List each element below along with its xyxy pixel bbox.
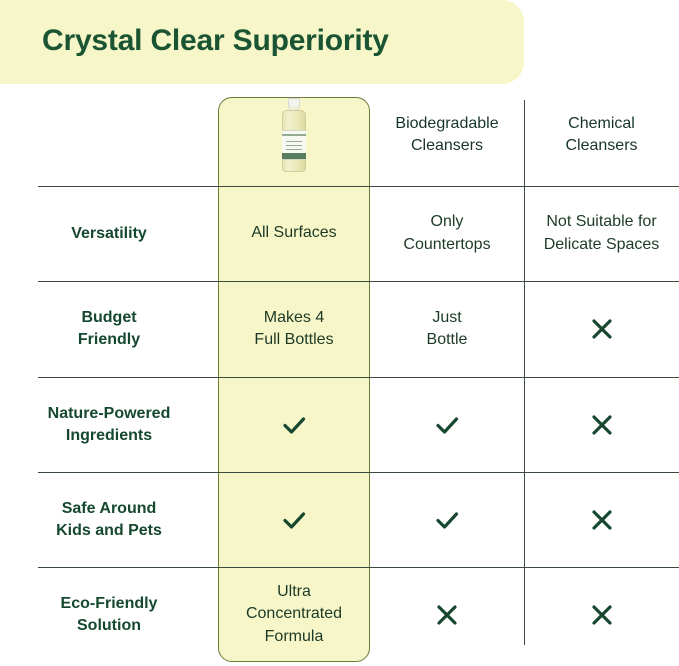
- row-label-line2: Kids and Pets: [56, 520, 162, 542]
- bottle-label-line: [286, 141, 302, 142]
- table-row: Safe Around Kids and Pets: [0, 472, 679, 567]
- cell-product-nature-powered: [218, 377, 370, 472]
- cell-biodegradable-nature-powered: [370, 377, 524, 472]
- cell-chemical-budget-friendly: [524, 281, 679, 377]
- row-separator: [38, 472, 679, 473]
- cell-biodegradable-versatility: Only Countertops: [370, 186, 524, 281]
- row-label-line2: Solution: [61, 615, 158, 637]
- cell-chemical-safe-around: [524, 472, 679, 567]
- cell-product-budget-friendly: Makes 4 Full Bottles: [218, 281, 370, 377]
- bottle-label-footer: [282, 153, 306, 159]
- row-separator: [38, 377, 679, 378]
- cell-biodegradable-eco-friendly: [370, 567, 524, 662]
- bottle-label-line: [286, 145, 302, 146]
- cell-line2: Concentrated: [246, 603, 342, 625]
- cell-line1: All Surfaces: [251, 222, 336, 244]
- column-divider: [524, 100, 525, 645]
- header-cell-chemical: Chemical Cleansers: [524, 84, 679, 186]
- header-cell-feature: [0, 84, 218, 186]
- row-label-line2: Friendly: [78, 329, 140, 351]
- row-label-line1: Budget: [78, 307, 140, 329]
- cell-line2: Countertops: [403, 234, 490, 256]
- check-mark-icon: [279, 410, 309, 440]
- cell-biodegradable-safe-around: [370, 472, 524, 567]
- header-cell-biodegradable: Biodegradable Cleansers: [370, 84, 524, 186]
- header-chemical-line2: Cleansers: [565, 135, 637, 157]
- row-separator: [38, 567, 679, 568]
- check-mark-icon: [279, 505, 309, 535]
- row-separator: [38, 281, 679, 282]
- cell-line2: Full Bottles: [254, 329, 333, 351]
- cell-product-safe-around: [218, 472, 370, 567]
- row-separator: [38, 186, 679, 187]
- cross-mark-icon: [587, 314, 617, 344]
- check-mark-icon: [432, 505, 462, 535]
- cell-line2: Bottle: [427, 329, 468, 351]
- header-biodegradable-line2: Cleansers: [395, 135, 498, 157]
- cell-line1: Just: [427, 307, 468, 329]
- table-row: Budget Friendly Makes 4 Full Bottles Jus…: [0, 281, 679, 377]
- header-cell-product: [218, 84, 370, 186]
- header-chemical-line1: Chemical: [565, 113, 637, 135]
- row-label-line1: Safe Around: [56, 498, 162, 520]
- row-label-budget-friendly: Budget Friendly: [0, 281, 218, 377]
- cross-mark-icon: [587, 410, 617, 440]
- comparison-table: Biodegradable Cleansers Chemical Cleanse…: [0, 84, 679, 666]
- row-label-safe-around-kids-and-pets: Safe Around Kids and Pets: [0, 472, 218, 567]
- row-label-line1: Versatility: [71, 223, 147, 245]
- cell-line2: Delicate Spaces: [544, 234, 660, 256]
- cross-mark-icon: [432, 600, 462, 630]
- cell-line1: Only: [403, 211, 490, 233]
- table-row: Versatility All Surfaces Only Countertop…: [0, 186, 679, 281]
- cell-line3: Formula: [246, 626, 342, 648]
- row-label-versatility: Versatility: [0, 186, 218, 281]
- cell-chemical-versatility: Not Suitable for Delicate Spaces: [524, 186, 679, 281]
- row-label-line1: Nature-Powered: [48, 403, 171, 425]
- row-label-line2: Ingredients: [48, 425, 171, 447]
- check-mark-icon: [432, 410, 462, 440]
- cross-mark-icon: [587, 505, 617, 535]
- cell-chemical-nature-powered: [524, 377, 679, 472]
- bottle-label-band: [282, 134, 306, 136]
- table-row: Eco-Friendly Solution Ultra Concentrated…: [0, 567, 679, 662]
- cell-line1: Not Suitable for: [544, 211, 660, 233]
- row-label-line1: Eco-Friendly: [61, 593, 158, 615]
- title-banner: Crystal Clear Superiority: [0, 0, 524, 84]
- cell-product-eco-friendly: Ultra Concentrated Formula: [218, 567, 370, 662]
- row-label-eco-friendly-solution: Eco-Friendly Solution: [0, 567, 218, 662]
- product-bottle-image: [279, 98, 309, 172]
- cell-chemical-eco-friendly: [524, 567, 679, 662]
- bottle-label: [282, 130, 306, 160]
- cell-line1: Makes 4: [254, 307, 333, 329]
- cross-mark-icon: [587, 600, 617, 630]
- cell-product-versatility: All Surfaces: [218, 186, 370, 281]
- page-title: Crystal Clear Superiority: [42, 24, 389, 58]
- table-row: Nature-Powered Ingredients: [0, 377, 679, 472]
- header-biodegradable-line1: Biodegradable: [395, 113, 498, 135]
- cell-biodegradable-budget-friendly: Just Bottle: [370, 281, 524, 377]
- bottle-label-line: [286, 149, 302, 150]
- cell-line1: Ultra: [246, 581, 342, 603]
- table-header-row: Biodegradable Cleansers Chemical Cleanse…: [0, 84, 679, 186]
- row-label-nature-powered-ingredients: Nature-Powered Ingredients: [0, 377, 218, 472]
